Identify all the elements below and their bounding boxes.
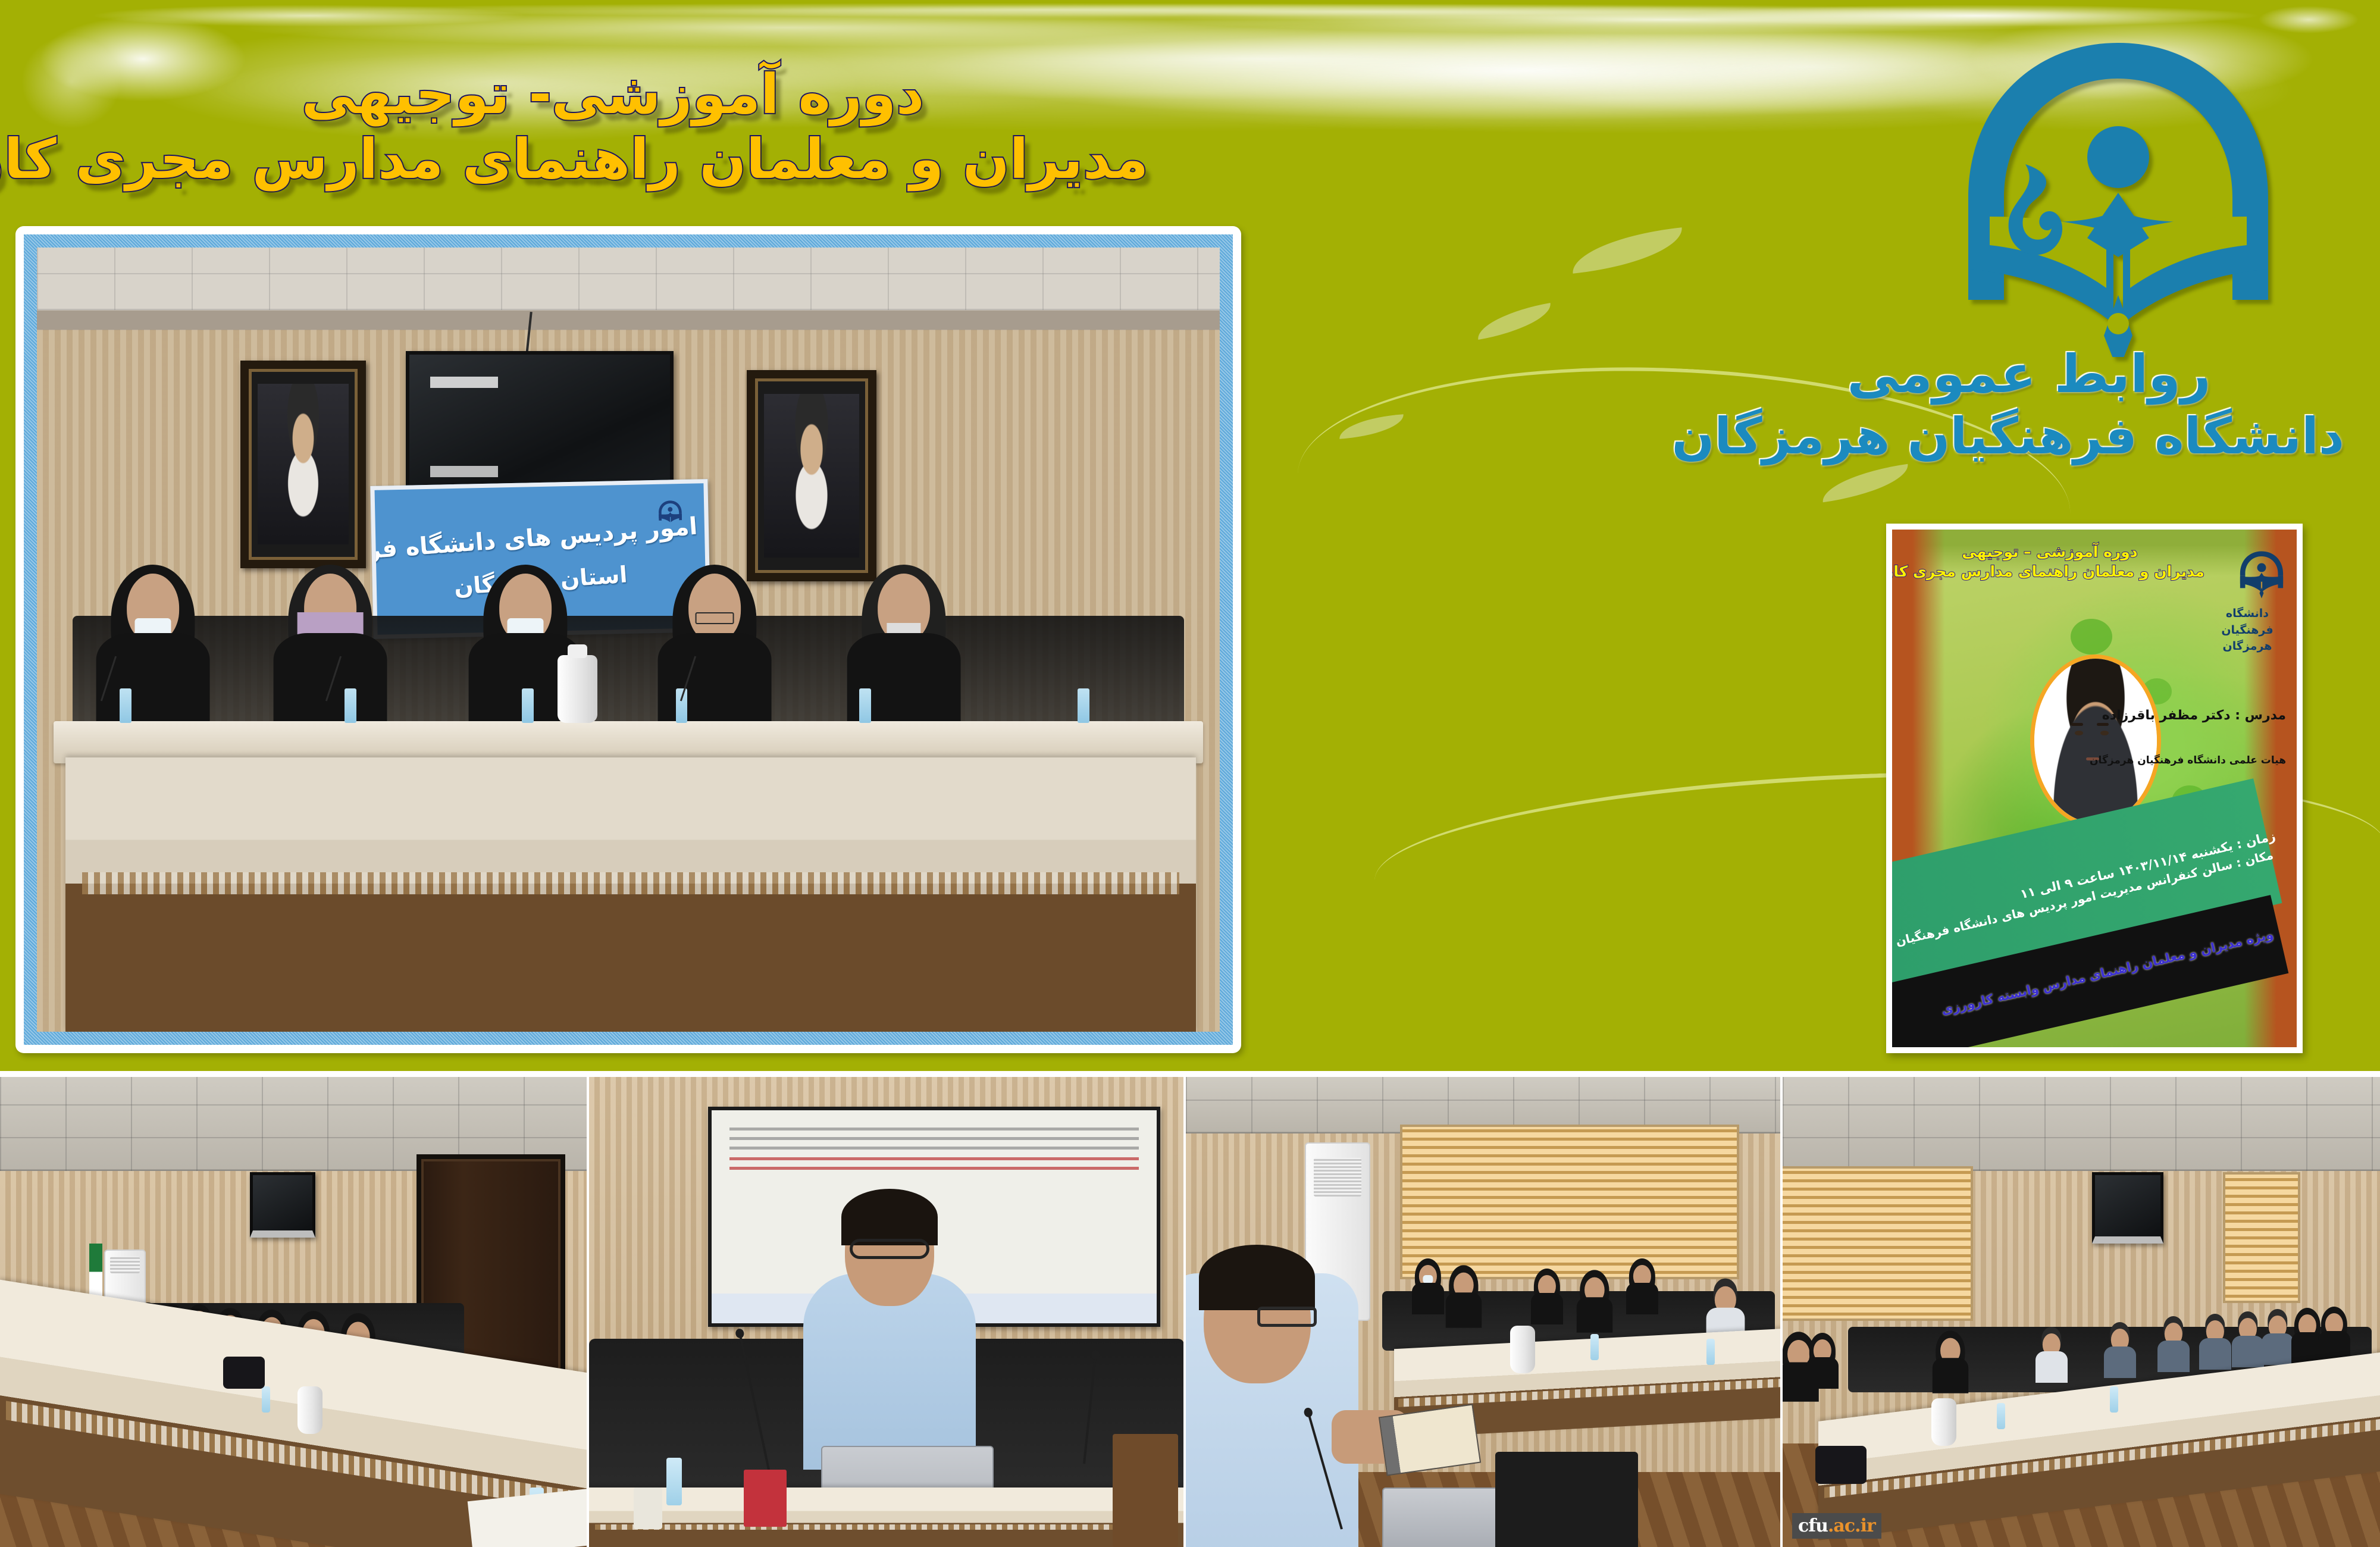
poster-canvas: دانشگاه فرهنگیان هرمزگان دوره آموزشی – ت… <box>1892 530 2297 1047</box>
audience-member <box>2318 1307 2350 1363</box>
seated-panelist <box>658 574 772 722</box>
water-bottle <box>1078 688 1089 723</box>
head <box>688 574 741 642</box>
water-bottle <box>859 688 871 723</box>
seated-panelist <box>96 574 209 722</box>
leaf-decoration-icon <box>1474 303 1555 340</box>
eyebrow <box>2097 723 2109 726</box>
wall-tv-screen-icon <box>250 1172 315 1238</box>
eyeglasses-icon <box>850 1239 929 1259</box>
water-bottle <box>345 688 356 723</box>
leaf-decoration-icon <box>1569 227 1685 274</box>
poster-brand-line-1: دانشگاه فرهنگیان <box>2203 606 2292 638</box>
water-bottle <box>676 688 688 723</box>
watermark-prefix: cfu <box>1798 1515 1828 1536</box>
ceiling-grid <box>37 248 1220 310</box>
audience-long-table-photo-1: cfu.ac.ir <box>1783 1077 2380 1547</box>
audience-member <box>1531 1269 1563 1324</box>
thermos-flask <box>1931 1398 1956 1446</box>
thermos-flask <box>558 655 598 722</box>
paint-splatter-decoration <box>2071 619 2112 654</box>
brand-line-university: دانشگاه فرهنگیان هرمزگان <box>1714 406 2344 466</box>
main-photo-mat: مدیریت امور پردیس های دانشگاه فرهنگیان ا… <box>24 234 1233 1045</box>
portrait-face <box>764 394 859 558</box>
speaker-hair <box>1199 1245 1315 1310</box>
poster-brand-line-2: هرمزگان <box>2203 638 2292 655</box>
panel-desk-front <box>65 757 1197 1032</box>
water-bottle <box>666 1458 682 1505</box>
audience-member <box>1577 1270 1612 1332</box>
monitor <box>1495 1452 1638 1547</box>
meeting-room-scene <box>1186 1077 1780 1547</box>
meeting-room-scene <box>0 1077 587 1547</box>
window-blinds <box>1400 1125 1739 1279</box>
brand-line-public-relations: روابط عمومی <box>1714 342 2344 406</box>
thermos-flask <box>297 1386 322 1434</box>
speaker-hair <box>841 1189 938 1245</box>
meeting-room-scene <box>1783 1077 2380 1547</box>
chair-row <box>73 616 1185 726</box>
page-title-line-1: دوره آموزشی- توجیهی <box>77 62 1148 127</box>
brand-text: روابط عمومی دانشگاه فرهنگیان هرمزگان <box>1714 342 2344 467</box>
farhangian-university-emblem-icon <box>1934 24 2303 357</box>
conference-panel-photo: مدیریت امور پردیس های دانشگاه فرهنگیان ا… <box>37 248 1220 1032</box>
instructor-face <box>2034 659 2157 823</box>
wall-tv-screen-icon <box>2092 1172 2163 1244</box>
page-title: دوره آموزشی- توجیهی مدیران و معلمان راهن… <box>77 62 1148 192</box>
window-blinds <box>1783 1166 1973 1321</box>
site-watermark: cfu.ac.ir <box>1792 1513 1881 1539</box>
ceiling <box>1783 1077 2380 1171</box>
audience-member <box>1626 1258 1658 1314</box>
handbag <box>1815 1446 1867 1484</box>
water-bottle <box>1997 1403 2005 1429</box>
watermark-domain: .ac.ir <box>1828 1515 1875 1536</box>
red-folder <box>744 1470 787 1527</box>
eyebrow <box>2071 723 2083 726</box>
projected-text <box>729 1128 1139 1130</box>
leaf-decoration-icon <box>1820 464 1912 502</box>
water-bottle <box>522 688 534 723</box>
bottom-photo-strip: cfu.ac.ir <box>0 1077 2380 1547</box>
water-bottle <box>2110 1386 2118 1413</box>
poster-instructor-label: مدرس : دکتر مظفر باقرزاده <box>2102 708 2286 723</box>
paper-cup <box>634 1487 662 1529</box>
water-bottle <box>262 1386 270 1413</box>
speaker-with-audience-photo-2 <box>1186 1077 1780 1547</box>
torso <box>658 633 772 722</box>
thermos-flask <box>1510 1326 1535 1373</box>
eyeglasses-icon <box>696 612 734 624</box>
water-bottle <box>1706 1339 1715 1365</box>
water-bottle <box>1590 1334 1599 1360</box>
poster-title-line-1: دوره آموزشی – توجیهی <box>1895 543 2204 562</box>
eyeglasses-icon <box>1257 1307 1317 1327</box>
audience-member <box>2262 1309 2294 1365</box>
audience-member <box>2104 1322 2136 1378</box>
poster-title-line-2: مدیران و معلمان راهنمای مدارس مجری کارور… <box>1895 562 2204 582</box>
poster-brand-text: دانشگاه فرهنگیان هرمزگان <box>2203 606 2292 655</box>
leaf-decoration-icon <box>1338 414 1405 439</box>
page-title-line-2: مدیران و معلمان راهنمای مدارس مجری کارور… <box>77 127 1148 192</box>
poster-title: دوره آموزشی – توجیهی مدیران و معلمان راه… <box>1895 543 2204 581</box>
audience-long-table-photo-4 <box>0 1077 587 1547</box>
main-photo-frame: مدیریت امور پردیس های دانشگاه فرهنگیان ا… <box>15 226 1241 1053</box>
audience-member <box>1446 1265 1482 1327</box>
audience-member <box>2199 1314 2231 1370</box>
torso <box>274 633 387 722</box>
event-announcement-poster[interactable]: دانشگاه فرهنگیان هرمزگان دوره آموزشی – ت… <box>1886 524 2303 1053</box>
audience-member <box>1412 1258 1444 1314</box>
speaker-at-podium-photo-3: hp <box>589 1077 1183 1547</box>
window-blinds <box>2223 1172 2300 1303</box>
khamenei-portrait <box>747 370 877 582</box>
audience-member <box>2157 1316 2190 1372</box>
khomeini-portrait <box>240 361 366 568</box>
torso <box>96 633 209 722</box>
portrait-face <box>258 384 349 544</box>
audience-member <box>1806 1333 1839 1389</box>
header-green-panel: دوره آموزشی- توجیهی مدیران و معلمان راهن… <box>0 0 2380 1071</box>
audience-member <box>1933 1330 1968 1393</box>
instructor-portrait <box>2030 654 2161 827</box>
water-bottle <box>120 688 131 723</box>
lecture-room-scene: hp <box>589 1077 1183 1547</box>
wooden-lectern <box>1113 1434 1178 1547</box>
audience-member <box>2035 1327 2068 1383</box>
seated-panelist <box>274 574 387 722</box>
handbag <box>223 1357 265 1389</box>
poster-emblem-icon <box>2236 545 2287 600</box>
poster-affiliation-label: هیات علمی دانشگاه فرهنگیان هرمزگان <box>2090 754 2286 766</box>
audience-member <box>2232 1311 2264 1367</box>
